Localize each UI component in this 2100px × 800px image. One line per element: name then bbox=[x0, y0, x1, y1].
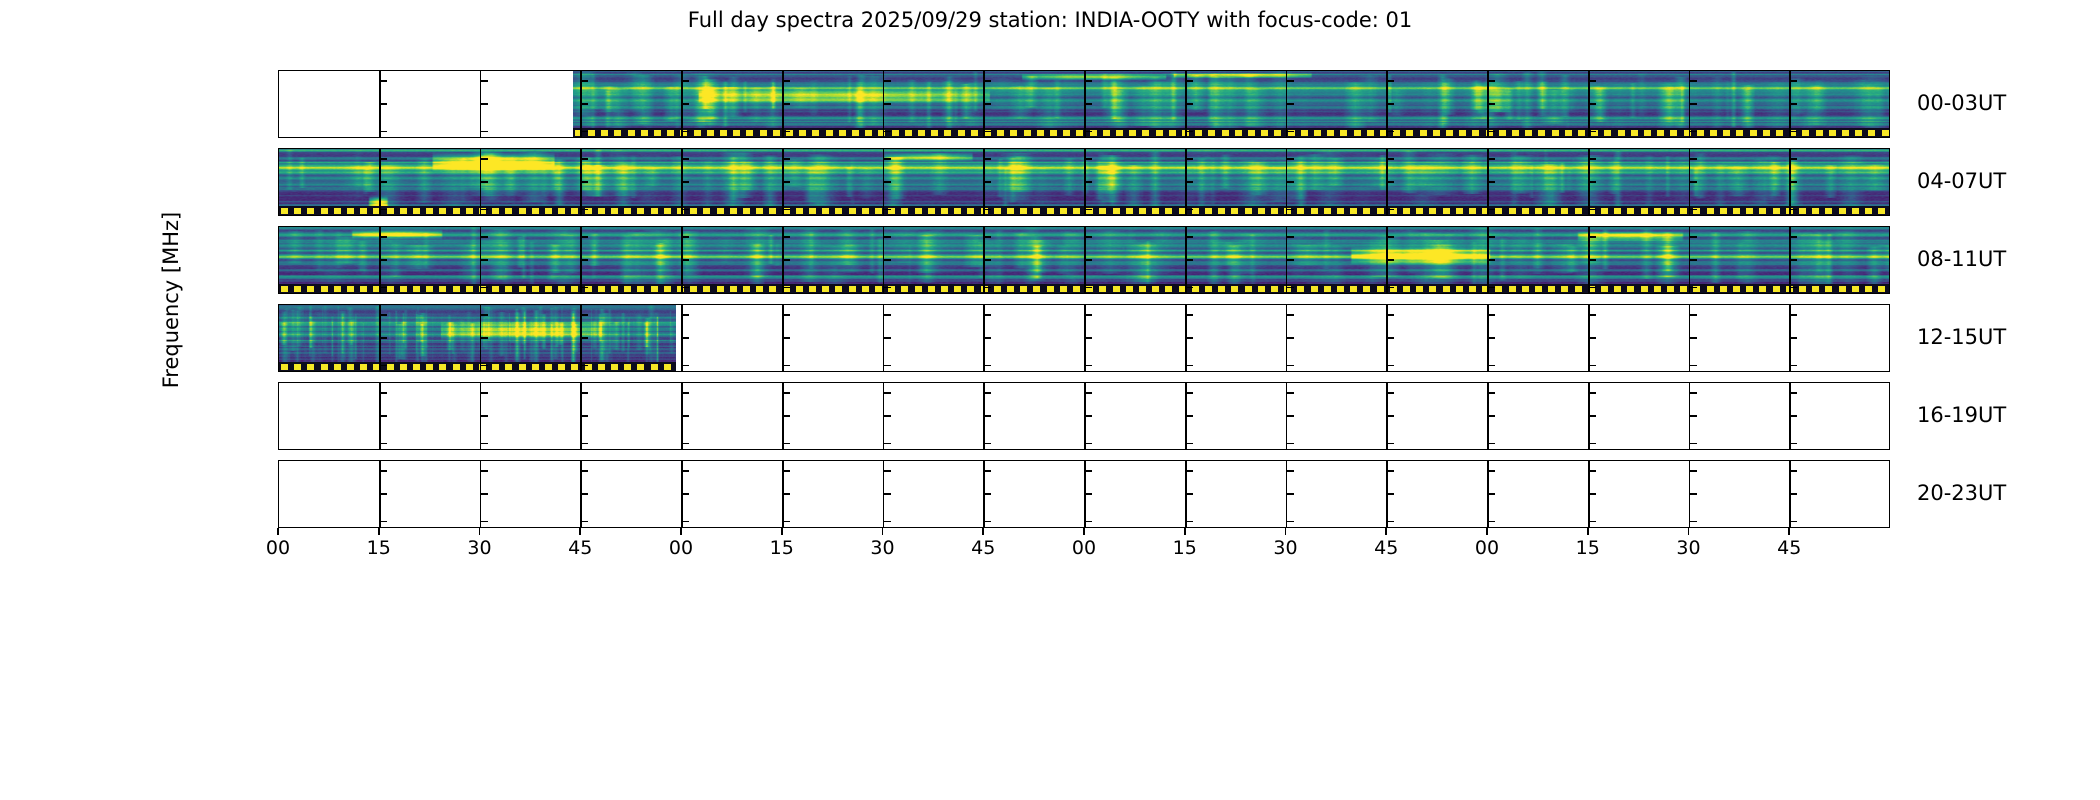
x-tick-label: 15 bbox=[367, 537, 391, 559]
y-tick-mark-inner bbox=[1287, 131, 1294, 133]
y-tick-mark-inner bbox=[682, 521, 689, 523]
y-tick-mark-inner bbox=[984, 287, 991, 289]
y-tick-mark bbox=[278, 103, 279, 105]
y-tick-mark-inner bbox=[1790, 158, 1797, 160]
coverage-marker-dash bbox=[1007, 286, 1014, 292]
y-tick-mark-inner bbox=[1387, 209, 1394, 211]
panel-row-12-15ut[interactable] bbox=[278, 304, 1890, 372]
x-tick-mark bbox=[882, 528, 884, 535]
coverage-marker-dash bbox=[1776, 130, 1783, 136]
coverage-marker-dash bbox=[1024, 130, 1031, 136]
coverage-marker-dash bbox=[756, 286, 763, 292]
y-tick-mark-inner bbox=[682, 392, 689, 394]
coverage-marker-dash bbox=[1350, 208, 1357, 214]
y-tick-mark-inner bbox=[1387, 103, 1394, 105]
y-tick-mark bbox=[278, 236, 279, 238]
y-tick-mark-inner bbox=[682, 131, 689, 133]
coverage-marker-dash bbox=[1073, 286, 1080, 292]
y-tick-mark-inner bbox=[1085, 259, 1092, 261]
coverage-marker-dash bbox=[651, 208, 658, 214]
coverage-marker-dash bbox=[1231, 208, 1238, 214]
y-tick-mark-inner bbox=[1790, 80, 1797, 82]
y-tick-mark-inner bbox=[783, 158, 790, 160]
x-tick-label: 00 bbox=[266, 537, 290, 559]
coverage-marker-dash bbox=[1324, 208, 1331, 214]
x-tick-label: 30 bbox=[1676, 537, 1700, 559]
y-tick-mark-inner bbox=[682, 158, 689, 160]
y-tick-mark-inner bbox=[1186, 470, 1193, 472]
coverage-marker-dash bbox=[505, 286, 512, 292]
coverage-marker-dash bbox=[1063, 130, 1070, 136]
y-tick-mark-inner bbox=[581, 236, 588, 238]
coverage-marker-dash bbox=[1509, 208, 1516, 214]
coverage-marker-dash bbox=[294, 208, 301, 214]
coverage-marker-dash bbox=[588, 130, 595, 136]
panel-row-00-03ut[interactable] bbox=[278, 70, 1890, 138]
row-label-20-23ut: 20-23UT bbox=[1917, 481, 2006, 505]
y-tick-mark-inner bbox=[884, 259, 891, 261]
y-tick-mark-inner bbox=[1387, 131, 1394, 133]
coverage-marker-dash bbox=[1759, 208, 1766, 214]
y-tick-mark-inner bbox=[1186, 103, 1193, 105]
coverage-marker-dash bbox=[1192, 208, 1199, 214]
y-tick-mark-inner bbox=[1790, 443, 1797, 445]
y-tick-mark-inner bbox=[481, 80, 488, 82]
y-tick-mark-inner bbox=[1387, 470, 1394, 472]
y-tick-mark-inner bbox=[1287, 415, 1294, 417]
coverage-marker-dash bbox=[334, 208, 341, 214]
coverage-marker-dash bbox=[756, 208, 763, 214]
coverage-marker-dash bbox=[1575, 286, 1582, 292]
coverage-marker-dash bbox=[637, 286, 644, 292]
coverage-marker-dash bbox=[347, 364, 354, 370]
coverage-marker-dash bbox=[1129, 130, 1136, 136]
y-tick-mark-inner bbox=[1186, 521, 1193, 523]
coverage-marker-dash bbox=[426, 364, 433, 370]
y-tick-mark-inner bbox=[1186, 209, 1193, 211]
y-tick-mark-inner bbox=[1287, 392, 1294, 394]
coverage-marker-dash bbox=[1839, 208, 1846, 214]
y-tick-mark-inner bbox=[984, 259, 991, 261]
coverage-marker-dash bbox=[971, 130, 978, 136]
y-tick-mark-inner bbox=[984, 103, 991, 105]
coverage-marker-dash bbox=[1868, 130, 1875, 136]
coverage-marker-dash bbox=[1165, 208, 1172, 214]
coverage-marker-dash bbox=[1882, 130, 1889, 136]
y-tick-mark-inner bbox=[1186, 314, 1193, 316]
coverage-marker-dash bbox=[1773, 208, 1780, 214]
x-tick-label: 15 bbox=[1173, 537, 1197, 559]
coverage-marker-dash bbox=[1799, 208, 1806, 214]
coverage-marker-dash bbox=[1192, 286, 1199, 292]
coverage-marker-dash bbox=[760, 130, 767, 136]
y-tick-mark-inner bbox=[380, 158, 387, 160]
y-tick-mark-inner bbox=[1589, 103, 1596, 105]
y-tick-mark-inner bbox=[1186, 337, 1193, 339]
coverage-marker-dash bbox=[1723, 130, 1730, 136]
y-tick-mark-inner bbox=[1186, 236, 1193, 238]
coverage-marker-dash bbox=[1561, 208, 1568, 214]
coverage-marker-dash bbox=[730, 208, 737, 214]
coverage-marker-dash bbox=[694, 130, 701, 136]
coverage-marker-dash bbox=[545, 364, 552, 370]
x-tick-label: 00 bbox=[1072, 537, 1096, 559]
x-tick-label: 15 bbox=[1576, 537, 1600, 559]
coverage-marker-dash bbox=[1020, 286, 1027, 292]
y-tick-mark-inner bbox=[1387, 158, 1394, 160]
coverage-marker-dash bbox=[281, 208, 288, 214]
y-tick-mark bbox=[278, 443, 279, 445]
coverage-marker-dash bbox=[901, 208, 908, 214]
coverage-marker-dash bbox=[1472, 130, 1479, 136]
y-tick-mark-inner bbox=[1186, 287, 1193, 289]
coverage-marker-dash bbox=[651, 364, 658, 370]
coverage-marker-dash bbox=[1037, 130, 1044, 136]
coverage-marker-dash bbox=[1601, 208, 1608, 214]
coverage-marker-dash bbox=[1113, 208, 1120, 214]
y-tick-mark-inner bbox=[1589, 443, 1596, 445]
y-tick-mark-inner bbox=[884, 470, 891, 472]
coverage-marker-dash bbox=[1261, 130, 1268, 136]
y-tick-mark-inner bbox=[783, 181, 790, 183]
y-tick-mark-inner bbox=[884, 158, 891, 160]
coverage-marker-dash bbox=[1522, 208, 1529, 214]
coverage-marker-dash bbox=[1047, 208, 1054, 214]
coverage-marker-dash bbox=[1363, 208, 1370, 214]
y-tick-mark-inner bbox=[1790, 521, 1797, 523]
coverage-marker-dash bbox=[1218, 208, 1225, 214]
coverage-marker-dash bbox=[664, 286, 671, 292]
coverage-marker-dash bbox=[746, 130, 753, 136]
y-tick-mark-inner bbox=[1488, 287, 1495, 289]
coverage-marker-dash bbox=[875, 208, 882, 214]
y-tick-mark-inner bbox=[1186, 181, 1193, 183]
coverage-marker-dash bbox=[1878, 286, 1885, 292]
x-tick-mark bbox=[1184, 528, 1186, 535]
y-tick-mark-inner bbox=[481, 181, 488, 183]
x-tick-mark bbox=[1788, 528, 1790, 535]
coverage-marker-dash bbox=[835, 286, 842, 292]
coverage-marker-dash bbox=[1363, 286, 1370, 292]
y-tick-mark-inner bbox=[884, 314, 891, 316]
coverage-marker-dash bbox=[1142, 130, 1149, 136]
panel-row-20-23ut[interactable] bbox=[278, 460, 1890, 528]
coverage-marker-dash bbox=[558, 364, 565, 370]
y-tick-mark-inner bbox=[984, 209, 991, 211]
coverage-marker-dash bbox=[545, 208, 552, 214]
coverage-marker-dash bbox=[1535, 286, 1542, 292]
coverage-marker-dash bbox=[387, 208, 394, 214]
coverage-marker-dash bbox=[1033, 208, 1040, 214]
coverage-marker-dash bbox=[667, 130, 674, 136]
y-tick-mark-inner bbox=[481, 415, 488, 417]
coverage-marker-dash bbox=[466, 364, 473, 370]
coverage-marker-dash bbox=[1548, 208, 1555, 214]
coverage-marker-dash bbox=[1852, 208, 1859, 214]
y-tick-mark-inner bbox=[380, 236, 387, 238]
coverage-marker-dash bbox=[796, 286, 803, 292]
y-tick-mark bbox=[278, 365, 279, 367]
coverage-marker-dash bbox=[492, 286, 499, 292]
coverage-marker-dash bbox=[1420, 130, 1427, 136]
y-tick-mark-inner bbox=[380, 209, 387, 211]
y-tick-mark-inner bbox=[1690, 287, 1697, 289]
y-tick-mark bbox=[278, 415, 279, 417]
y-tick-mark-inner bbox=[581, 392, 588, 394]
coverage-marker-dash bbox=[360, 286, 367, 292]
y-tick-mark-inner bbox=[1287, 337, 1294, 339]
y-tick-mark-inner bbox=[1085, 287, 1092, 289]
y-tick-mark-inner bbox=[1387, 314, 1394, 316]
coverage-marker-dash bbox=[1152, 286, 1159, 292]
coverage-marker-dash bbox=[664, 364, 671, 370]
coverage-marker-dash bbox=[611, 364, 618, 370]
y-axis-label-text: Frequency [MHz] bbox=[159, 150, 183, 450]
coverage-marker-dash bbox=[1855, 130, 1862, 136]
y-tick-mark-inner bbox=[984, 415, 991, 417]
y-tick-mark-inner bbox=[1790, 287, 1797, 289]
x-tick-mark bbox=[378, 528, 380, 535]
coverage-marker-dash bbox=[1429, 208, 1436, 214]
y-tick-mark-inner bbox=[481, 287, 488, 289]
y-tick-mark-inner bbox=[1790, 337, 1797, 339]
coverage-marker-dash bbox=[822, 208, 829, 214]
coverage-marker-dash bbox=[1654, 208, 1661, 214]
coverage-marker-dash bbox=[1736, 130, 1743, 136]
y-tick-mark-inner bbox=[1287, 158, 1294, 160]
spectrogram-figure: Full day spectra 2025/09/29 station: IND… bbox=[0, 0, 2100, 800]
coverage-marker-dash bbox=[1825, 286, 1832, 292]
y-tick-mark-inner bbox=[783, 287, 790, 289]
y-tick-mark-inner bbox=[1287, 314, 1294, 316]
coverage-marker-dash bbox=[1456, 286, 1463, 292]
y-tick-mark-inner bbox=[984, 470, 991, 472]
y-tick-mark bbox=[278, 131, 279, 133]
x-tick-mark bbox=[982, 528, 984, 535]
coverage-marker-dash bbox=[637, 364, 644, 370]
y-tick-mark-inner bbox=[682, 314, 689, 316]
y-tick-mark-inner bbox=[682, 470, 689, 472]
coverage-marker-dash bbox=[321, 364, 328, 370]
y-tick-mark-inner bbox=[581, 443, 588, 445]
x-tick-mark bbox=[781, 528, 783, 535]
y-tick-mark-inner bbox=[1790, 181, 1797, 183]
panel-row-04-07ut[interactable] bbox=[278, 148, 1890, 216]
x-tick-label: 00 bbox=[669, 537, 693, 559]
coverage-marker-dash bbox=[1443, 286, 1450, 292]
coverage-marker-dash bbox=[1393, 130, 1400, 136]
coverage-marker-dash bbox=[905, 130, 912, 136]
coverage-marker-dash bbox=[1139, 286, 1146, 292]
y-tick-mark-inner bbox=[481, 365, 488, 367]
y-tick-mark-inner bbox=[380, 287, 387, 289]
y-tick-mark-inner bbox=[1690, 521, 1697, 523]
x-tick-label: 45 bbox=[1374, 537, 1398, 559]
coverage-marker-dash bbox=[1248, 130, 1255, 136]
coverage-marker-dash bbox=[532, 364, 539, 370]
coverage-marker-dash bbox=[1076, 130, 1083, 136]
y-tick-mark-inner bbox=[1488, 470, 1495, 472]
coverage-marker-dash bbox=[1156, 130, 1163, 136]
coverage-marker-dash bbox=[743, 286, 750, 292]
y-tick-mark-inner bbox=[1690, 259, 1697, 261]
y-tick-mark-inner bbox=[1589, 365, 1596, 367]
y-tick-mark-inner bbox=[783, 259, 790, 261]
coverage-marker-dash bbox=[1865, 208, 1872, 214]
spectrogram-canvas bbox=[279, 305, 676, 370]
coverage-marker-dash bbox=[931, 130, 938, 136]
y-tick-mark-inner bbox=[1387, 236, 1394, 238]
coverage-marker-dash bbox=[1707, 286, 1714, 292]
y-tick-mark-inner bbox=[581, 337, 588, 339]
coverage-marker-dash bbox=[1429, 286, 1436, 292]
y-tick-mark-inner bbox=[984, 158, 991, 160]
coverage-marker-dash bbox=[1644, 130, 1651, 136]
y-tick-mark-inner bbox=[481, 470, 488, 472]
coverage-marker-dash bbox=[690, 208, 697, 214]
coverage-marker-dash bbox=[1195, 130, 1202, 136]
coverage-marker-dash bbox=[865, 130, 872, 136]
y-tick-mark-inner bbox=[1287, 259, 1294, 261]
coverage-marker-dash bbox=[601, 130, 608, 136]
y-tick-mark-inner bbox=[380, 314, 387, 316]
y-tick-mark-inner bbox=[581, 209, 588, 211]
y-tick-mark-inner bbox=[481, 236, 488, 238]
coverage-marker-dash bbox=[1235, 130, 1242, 136]
y-tick-mark-inner bbox=[1387, 365, 1394, 367]
coverage-marker-dash bbox=[1750, 130, 1757, 136]
coverage-marker-dash bbox=[994, 286, 1001, 292]
y-axis-label: Frequency [MHz] bbox=[181, 0, 205, 300]
y-tick-mark-inner bbox=[884, 287, 891, 289]
y-tick-mark-inner bbox=[1085, 392, 1092, 394]
row-label-00-03ut: 00-03UT bbox=[1917, 91, 2006, 115]
coverage-marker-dash bbox=[1047, 286, 1054, 292]
coverage-marker-dash bbox=[1499, 130, 1506, 136]
y-tick-mark-inner bbox=[1085, 103, 1092, 105]
coverage-marker-dash bbox=[717, 286, 724, 292]
y-tick-mark-inner bbox=[1085, 337, 1092, 339]
y-tick-mark-inner bbox=[1186, 131, 1193, 133]
coverage-marker-dash bbox=[1865, 286, 1872, 292]
y-tick-mark-inner bbox=[1690, 131, 1697, 133]
y-tick-mark-inner bbox=[380, 415, 387, 417]
y-tick-mark-inner bbox=[1287, 443, 1294, 445]
y-tick-mark-inner bbox=[1287, 181, 1294, 183]
y-tick-mark-inner bbox=[1589, 521, 1596, 523]
coverage-marker-dash bbox=[1746, 286, 1753, 292]
y-tick-mark-inner bbox=[380, 470, 387, 472]
coverage-marker-dash bbox=[796, 208, 803, 214]
coverage-marker-dash bbox=[690, 286, 697, 292]
coverage-marker-dash bbox=[1099, 208, 1106, 214]
coverage-marker-dash bbox=[1459, 130, 1466, 136]
y-tick-mark-inner bbox=[783, 443, 790, 445]
coverage-marker-dash bbox=[294, 286, 301, 292]
coverage-marker-dash bbox=[915, 286, 922, 292]
coverage-marker-dash bbox=[1271, 286, 1278, 292]
coverage-marker-dash bbox=[809, 286, 816, 292]
y-tick-mark-inner bbox=[1186, 80, 1193, 82]
y-tick-mark-inner bbox=[1488, 337, 1495, 339]
panel-row-08-11ut[interactable] bbox=[278, 226, 1890, 294]
y-tick-mark-inner bbox=[1287, 80, 1294, 82]
y-tick-mark-inner bbox=[380, 80, 387, 82]
coverage-marker-dash bbox=[1377, 208, 1384, 214]
figure-title: Full day spectra 2025/09/29 station: IND… bbox=[0, 8, 2100, 32]
coverage-marker-dash bbox=[281, 364, 288, 370]
coverage-marker-dash bbox=[1403, 208, 1410, 214]
coverage-marker-dash bbox=[862, 208, 869, 214]
coverage-marker-dash bbox=[849, 208, 856, 214]
y-tick-mark-inner bbox=[682, 80, 689, 82]
y-tick-mark-inner bbox=[1186, 158, 1193, 160]
coverage-marker-dash bbox=[1641, 208, 1648, 214]
y-tick-mark-inner bbox=[1387, 443, 1394, 445]
coverage-marker-dash bbox=[1670, 130, 1677, 136]
coverage-marker-dash bbox=[1710, 130, 1717, 136]
coverage-marker-dash bbox=[1667, 286, 1674, 292]
y-tick-mark-inner bbox=[1085, 365, 1092, 367]
y-tick-mark bbox=[278, 209, 279, 211]
y-tick-mark bbox=[278, 287, 279, 289]
coverage-marker-dash bbox=[281, 286, 288, 292]
coverage-marker-dash bbox=[1839, 286, 1846, 292]
y-tick-mark-inner bbox=[380, 521, 387, 523]
y-tick-mark-inner bbox=[984, 314, 991, 316]
y-tick-mark-inner bbox=[1488, 181, 1495, 183]
coverage-marker-dash bbox=[1245, 286, 1252, 292]
coverage-marker-dash bbox=[1314, 130, 1321, 136]
coverage-marker-dash bbox=[928, 208, 935, 214]
y-tick-mark-inner bbox=[1589, 493, 1596, 495]
y-tick-mark-inner bbox=[581, 415, 588, 417]
y-tick-mark-inner bbox=[1589, 314, 1596, 316]
coverage-marker-dash bbox=[347, 208, 354, 214]
y-tick-mark-inner bbox=[1488, 443, 1495, 445]
coverage-marker-dash bbox=[839, 130, 846, 136]
x-tick-mark bbox=[1587, 528, 1589, 535]
y-tick-mark-inner bbox=[1387, 259, 1394, 261]
panel-row-16-19ut[interactable] bbox=[278, 382, 1890, 450]
y-tick-mark-inner bbox=[1085, 470, 1092, 472]
y-tick-mark-inner bbox=[682, 209, 689, 211]
coverage-marker-dash bbox=[1311, 208, 1318, 214]
coverage-marker-dash bbox=[294, 364, 301, 370]
y-tick-mark-inner bbox=[884, 337, 891, 339]
y-tick-mark-inner bbox=[984, 181, 991, 183]
x-tick-mark bbox=[1285, 528, 1287, 535]
y-tick-mark-inner bbox=[1287, 209, 1294, 211]
y-tick-mark-inner bbox=[1387, 181, 1394, 183]
y-tick-mark-inner bbox=[581, 131, 588, 133]
y-tick-mark-inner bbox=[984, 236, 991, 238]
y-tick-mark-inner bbox=[481, 392, 488, 394]
coverage-marker-dash bbox=[1354, 130, 1361, 136]
y-tick-mark-inner bbox=[1589, 236, 1596, 238]
y-tick-mark-inner bbox=[1488, 209, 1495, 211]
coverage-marker-dash bbox=[1720, 208, 1727, 214]
y-tick-mark-inner bbox=[1589, 337, 1596, 339]
y-tick-mark-inner bbox=[481, 259, 488, 261]
coverage-marker-dash bbox=[835, 208, 842, 214]
coverage-marker-dash bbox=[1208, 130, 1215, 136]
y-tick-mark-inner bbox=[581, 314, 588, 316]
coverage-marker-dash bbox=[1099, 286, 1106, 292]
x-tick-mark bbox=[479, 528, 481, 535]
coverage-marker-dash bbox=[1406, 130, 1413, 136]
coverage-marker-dash bbox=[360, 208, 367, 214]
